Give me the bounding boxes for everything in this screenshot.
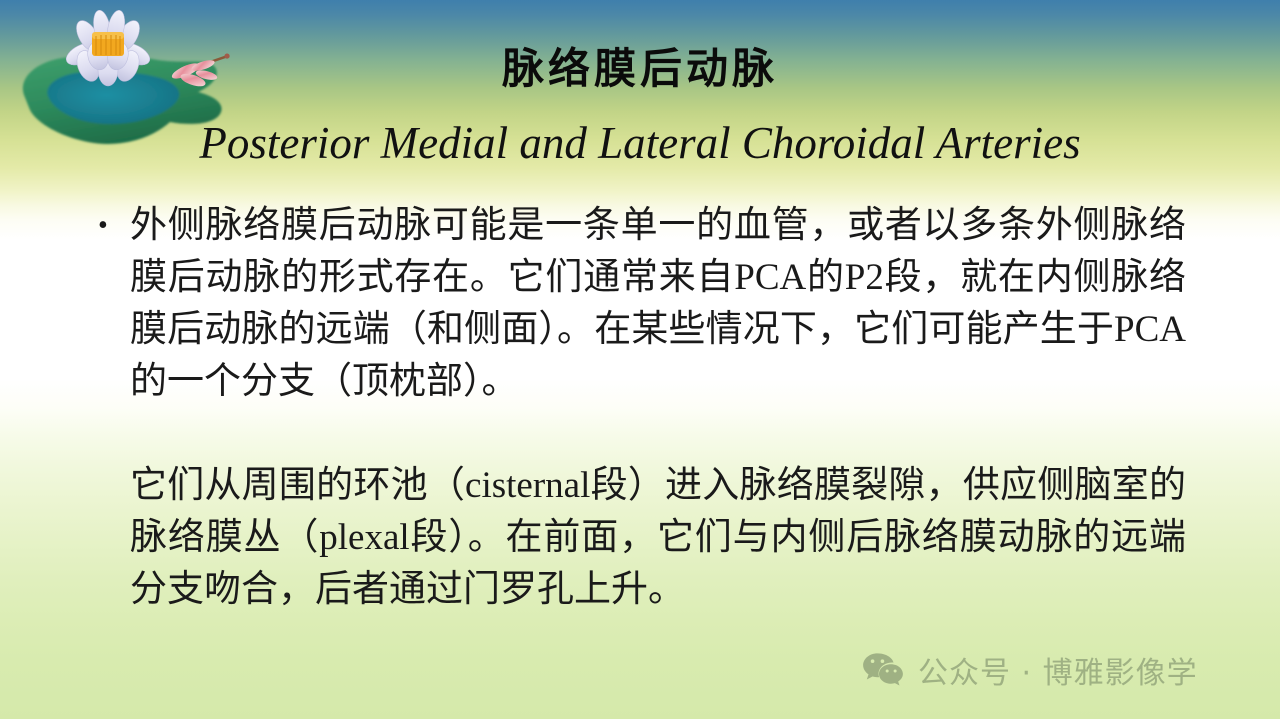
- body-paragraph-2: 它们从周围的环池（cisternal段）进入脉络膜裂隙，供应侧脑室的脉络膜丛（p…: [96, 460, 1186, 616]
- bullet-icon: •: [98, 200, 108, 252]
- slide-title-english: Posterior Medial and Lateral Choroidal A…: [0, 118, 1280, 168]
- body-paragraph-1-text: 外侧脉络膜后动脉可能是一条单一的血管，或者以多条外侧脉络膜后动脉的形式存在。它们…: [130, 205, 1186, 402]
- slide-canvas: 脉络膜后动脉 Posterior Medial and Lateral Chor…: [0, 0, 1280, 719]
- footer-watermark: 公众号 · 博雅影像学: [862, 648, 1198, 692]
- slide-title-chinese: 脉络膜后动脉: [0, 48, 1280, 90]
- body-paragraph-2-text: 它们从周围的环池（cisternal段）进入脉络膜裂隙，供应侧脑室的脉络膜丛（p…: [130, 465, 1186, 610]
- wechat-icon: [862, 652, 904, 688]
- footer-label: 公众号 · 博雅影像学: [918, 648, 1198, 692]
- slide-body: • 外侧脉络膜后动脉可能是一条单一的血管，或者以多条外侧脉络膜后动脉的形式存在。…: [96, 200, 1186, 616]
- body-paragraph-1: • 外侧脉络膜后动脉可能是一条单一的血管，或者以多条外侧脉络膜后动脉的形式存在。…: [96, 200, 1186, 408]
